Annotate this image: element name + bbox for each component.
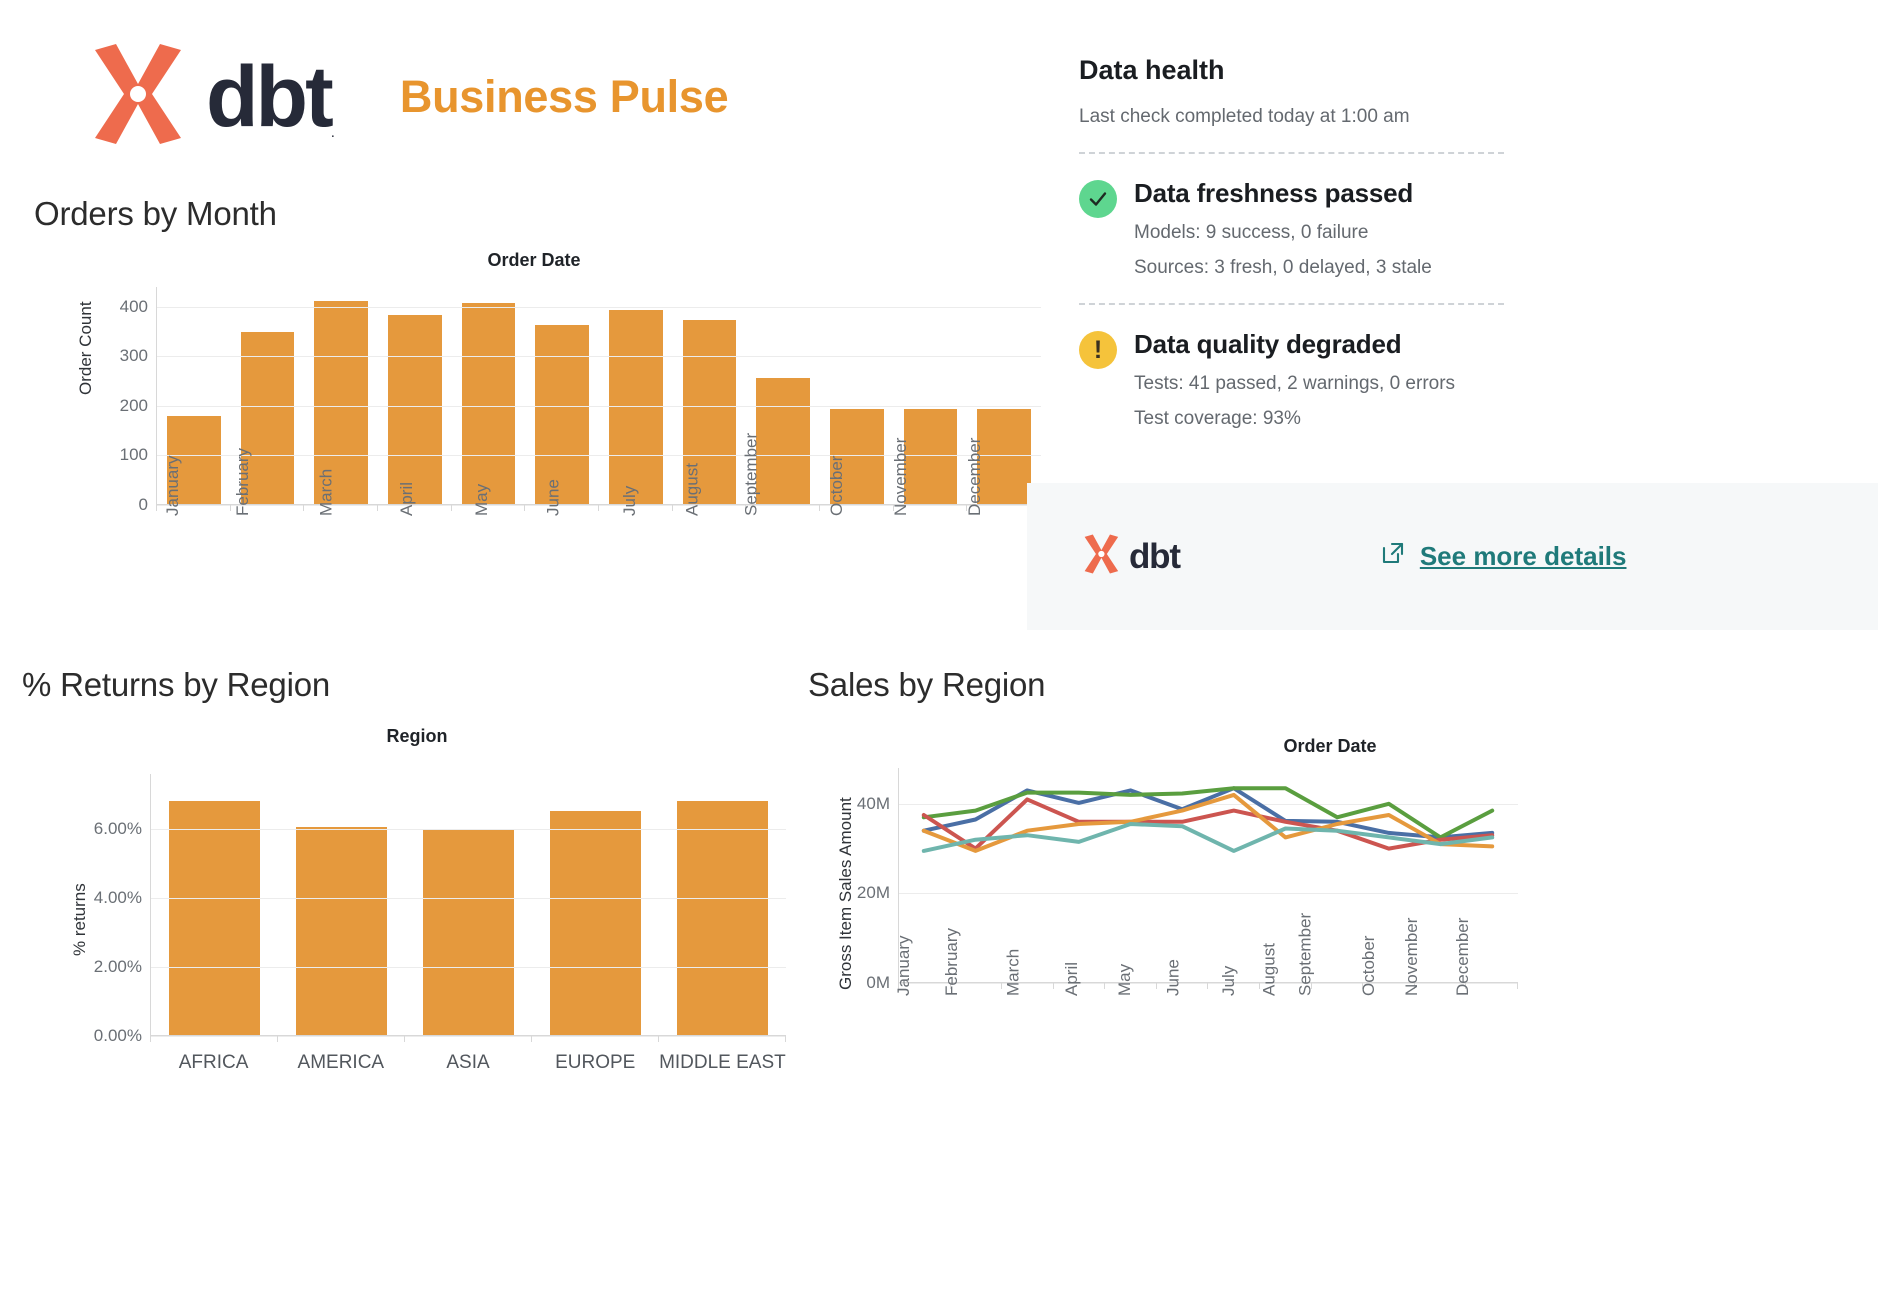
orders-x-label-cell: June	[525, 510, 599, 620]
health-freshness-models: Models: 9 success, 0 failure	[1134, 222, 1432, 244]
orders-y-tick-label: 400	[120, 297, 148, 317]
returns-gridline	[151, 967, 786, 968]
orders-x-tick-label: May	[472, 484, 492, 516]
dbt-x-logo-icon	[1078, 532, 1124, 581]
sales-x-label-cell: September	[1311, 990, 1363, 1110]
sales-y-tick-label: 20M	[857, 883, 890, 903]
orders-x-tick-label: November	[891, 438, 911, 516]
returns-bars	[151, 774, 786, 1035]
sales-x-axis-labels: JanuaryFebruaryMarchAprilMayJuneJulyAugu…	[898, 990, 1518, 1110]
sales-x-tick-label: April	[1062, 962, 1082, 996]
dbt-x-logo-icon	[78, 38, 196, 155]
returns-x-tick	[150, 1036, 277, 1042]
data-health-footer: dbt See more details	[1027, 483, 1878, 630]
data-health-title: Data health	[1079, 55, 1819, 86]
orders-chart-header: Order Date	[34, 250, 1034, 271]
returns-bar[interactable]	[550, 811, 641, 1035]
orders-bar-slot	[525, 287, 599, 504]
external-link-icon	[1380, 540, 1406, 573]
returns-x-tick-label: AMERICA	[277, 1052, 404, 1074]
returns-bar[interactable]	[423, 829, 514, 1035]
orders-bar[interactable]	[756, 378, 810, 504]
health-item-quality: ! Data quality degraded Tests: 41 passed…	[1079, 329, 1819, 430]
returns-x-tick	[277, 1036, 404, 1042]
orders-gridline	[157, 307, 1041, 308]
sales-x-tick-label: March	[1004, 949, 1024, 996]
returns-bar-slot	[405, 774, 532, 1035]
health-quality-title: Data quality degraded	[1134, 329, 1455, 360]
orders-x-tick-label: March	[317, 469, 337, 516]
returns-gridline	[151, 829, 786, 830]
dashboard-header: dbt. Business Pulse	[78, 38, 728, 155]
orders-x-label-cell: July	[599, 510, 673, 620]
sales-x-tick-label: May	[1114, 964, 1134, 996]
sales-x-label-cell: July	[1208, 990, 1260, 1110]
sales-x-tick-label: February	[941, 928, 961, 996]
orders-y-axis-title: Order Count	[76, 301, 96, 395]
health-item-body: Data freshness passed Models: 9 success,…	[1134, 178, 1432, 279]
orders-x-tick-label: July	[620, 486, 640, 516]
returns-y-tick-label: 2.00%	[94, 957, 142, 977]
sales-chart-header: Order Date	[900, 736, 1760, 757]
returns-x-tick	[531, 1036, 658, 1042]
orders-x-tick-label: June	[543, 479, 563, 516]
sales-x-label-cell: May	[1105, 990, 1157, 1110]
exclamation-glyph: !	[1094, 338, 1102, 363]
trademark-mark: .	[331, 124, 332, 141]
returns-bar-slot	[151, 774, 278, 1035]
orders-x-tick-label: February	[233, 448, 253, 516]
sales-x-label-cell: March	[1001, 990, 1053, 1110]
returns-bar-slot	[278, 774, 405, 1035]
divider-1	[1079, 152, 1504, 154]
sales-x-label-cell: June	[1156, 990, 1208, 1110]
returns-plot-area: 0.00%2.00%4.00%6.00%	[150, 774, 786, 1036]
sales-x-tick-label: December	[1453, 918, 1473, 996]
orders-x-label-cell: March	[304, 510, 378, 620]
orders-gridline	[157, 406, 1041, 407]
orders-x-tick-label: January	[163, 456, 183, 516]
orders-section-title: Orders by Month	[34, 195, 277, 233]
sales-x-tick-label: November	[1401, 918, 1421, 996]
returns-x-tick	[658, 1036, 786, 1042]
returns-x-tickmarks	[150, 1036, 786, 1042]
orders-x-label-cell: February	[230, 510, 304, 620]
returns-gridline	[151, 898, 786, 899]
returns-section-title: % Returns by Region	[22, 666, 330, 704]
health-quality-coverage: Test coverage: 93%	[1134, 408, 1455, 430]
sales-x-tickmarks	[898, 983, 1518, 989]
sales-line-series-blue[interactable]	[924, 788, 1492, 837]
dbt-footer-logo: dbt	[1078, 532, 1180, 581]
sales-section-title: Sales by Region	[808, 666, 1045, 704]
orders-x-label-cell: January	[156, 510, 230, 620]
data-health-panel: Data health Last check completed today a…	[1079, 55, 1819, 430]
sales-line-series-green[interactable]	[924, 788, 1492, 837]
sales-x-label-cell: January	[898, 990, 950, 1110]
orders-bar-slot	[452, 287, 526, 504]
sales-x-tick-label: September	[1296, 913, 1316, 996]
dbt-wordmark: dbt.	[206, 54, 332, 140]
sales-x-tick-label: January	[894, 936, 914, 996]
health-freshness-title: Data freshness passed	[1134, 178, 1432, 209]
divider-2	[1079, 303, 1504, 305]
orders-y-tick-label: 300	[120, 346, 148, 366]
orders-x-tick-label: August	[683, 463, 703, 516]
orders-x-label-cell: August	[672, 510, 746, 620]
warning-circle-icon: !	[1079, 331, 1117, 369]
returns-x-tick-label: ASIA	[404, 1052, 531, 1074]
sales-x-tick-label: July	[1219, 966, 1239, 996]
orders-x-label-cell: April	[377, 510, 451, 620]
orders-by-month-chart: Orders by Month Order Date Order Count 0…	[34, 195, 1034, 645]
returns-bar[interactable]	[169, 801, 260, 1035]
see-more-details-link[interactable]: See more details	[1380, 540, 1627, 573]
returns-by-region-chart: % Returns by Region Region % returns 0.0…	[22, 666, 822, 1306]
sales-x-label-cell: April	[1053, 990, 1105, 1110]
orders-bar[interactable]	[535, 325, 589, 504]
dbt-footer-wordmark: dbt	[1129, 537, 1180, 577]
sales-lines-svg	[898, 768, 1518, 983]
orders-bar-slot	[378, 287, 452, 504]
sales-x-tick-label: August	[1259, 943, 1279, 996]
sales-x-tick	[1465, 983, 1518, 989]
orders-x-tick-label: December	[965, 438, 985, 516]
orders-bar[interactable]	[388, 315, 442, 504]
sales-plot-area	[898, 768, 1518, 983]
health-freshness-sources: Sources: 3 fresh, 0 delayed, 3 stale	[1134, 257, 1432, 279]
returns-bar[interactable]	[296, 827, 387, 1035]
orders-gridline	[157, 356, 1041, 357]
returns-bar-slot	[659, 774, 786, 1035]
orders-y-tick-label: 200	[120, 396, 148, 416]
orders-x-axis-labels: JanuaryFebruaryMarchAprilMayJuneJulyAugu…	[156, 510, 1041, 620]
sales-y-tick-label: 0M	[866, 973, 890, 993]
orders-bar[interactable]	[609, 310, 663, 504]
sales-x-tick-label: June	[1164, 959, 1184, 996]
dashboard-page: dbt. Business Pulse Orders by Month Orde…	[0, 0, 1878, 1312]
see-more-details-label: See more details	[1420, 541, 1627, 572]
health-quality-tests: Tests: 41 passed, 2 warnings, 0 errors	[1134, 373, 1455, 395]
check-circle-icon	[1079, 180, 1117, 218]
sales-y-tick-label: 40M	[857, 794, 890, 814]
sales-x-tick	[1311, 983, 1363, 989]
dbt-logo: dbt.	[78, 38, 332, 155]
health-item-freshness: Data freshness passed Models: 9 success,…	[1079, 178, 1819, 279]
sales-x-label-cell: October	[1363, 990, 1415, 1110]
returns-x-axis-labels: AFRICAAMERICAASIAEUROPEMIDDLE EAST	[150, 1052, 786, 1074]
returns-x-tick-label: EUROPE	[532, 1052, 659, 1074]
orders-x-label-cell: September	[746, 510, 820, 620]
orders-x-tick-label: September	[741, 433, 761, 516]
sales-y-axis-title: Gross Item Sales Amount	[836, 797, 856, 990]
sales-x-label-cell: December	[1466, 990, 1518, 1110]
orders-bar[interactable]	[462, 303, 516, 504]
returns-y-tick-label: 0.00%	[94, 1026, 142, 1046]
health-item-body: Data quality degraded Tests: 41 passed, …	[1134, 329, 1455, 430]
orders-x-label-cell: May	[451, 510, 525, 620]
sales-x-tick-label: October	[1359, 936, 1379, 996]
returns-y-tick-label: 4.00%	[94, 888, 142, 908]
returns-y-tick-label: 6.00%	[94, 819, 142, 839]
sales-x-label-cell: November	[1415, 990, 1467, 1110]
sales-line-series-orange[interactable]	[924, 795, 1492, 851]
returns-bar-slot	[532, 774, 659, 1035]
orders-y-tick-label: 100	[120, 445, 148, 465]
orders-y-tick-label: 0	[139, 495, 148, 515]
orders-x-label-cell: November	[894, 510, 968, 620]
returns-chart-header: Region	[22, 726, 812, 747]
orders-bar-slot	[599, 287, 673, 504]
returns-x-tick-label: AFRICA	[150, 1052, 277, 1074]
sales-x-label-cell: February	[950, 990, 1002, 1110]
returns-x-tick	[404, 1036, 531, 1042]
orders-x-label-cell: October	[820, 510, 894, 620]
returns-y-axis-title: % returns	[70, 883, 90, 956]
sales-x-label-cell: August	[1260, 990, 1312, 1110]
page-title: Business Pulse	[400, 71, 728, 123]
returns-bar[interactable]	[677, 801, 768, 1035]
orders-x-tick-label: April	[397, 482, 417, 516]
returns-x-tick-label: MIDDLE EAST	[659, 1052, 786, 1074]
data-health-subtitle: Last check completed today at 1:00 am	[1079, 106, 1819, 128]
orders-x-tick-label: October	[826, 456, 846, 516]
